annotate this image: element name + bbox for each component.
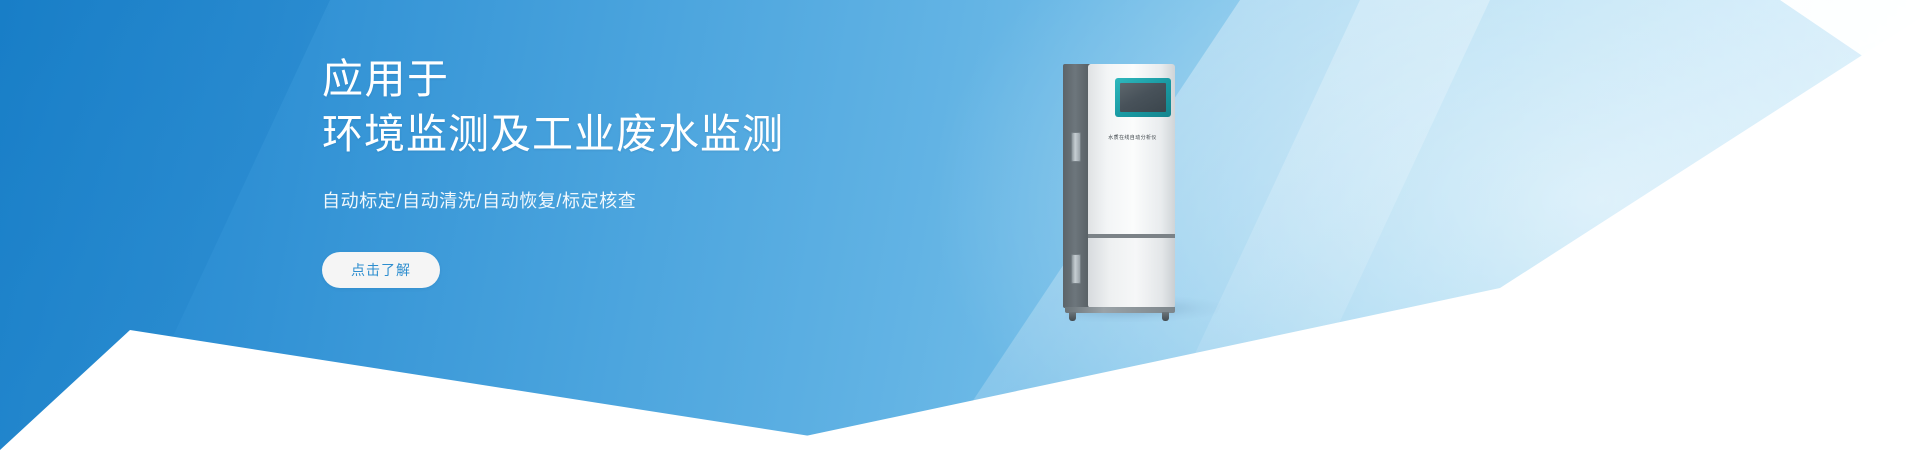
hero-headline: 应用于 环境监测及工业废水监测 (322, 52, 1022, 162)
device-display-screen (1120, 83, 1166, 112)
device-lower-cabinet (1088, 238, 1175, 308)
hero-subtitle: 自动标定/自动清洗/自动恢复/标定核查 (322, 188, 1022, 214)
device-foot-right (1162, 312, 1169, 321)
device-display-bezel (1115, 78, 1171, 117)
water-quality-analyzer-device: 水质在线自动分析仪 (1063, 64, 1177, 314)
device-foot-left (1069, 312, 1076, 321)
headline-line-2: 环境监测及工业废水监测 (322, 107, 1022, 162)
device-label: 水质在线自动分析仪 (1090, 134, 1175, 141)
device-upper-handle (1071, 132, 1081, 162)
hero-copy: 应用于 环境监测及工业废水监测 自动标定/自动清洗/自动恢复/标定核查 点击了解 (322, 52, 1022, 288)
hero-banner: 应用于 环境监测及工业废水监测 自动标定/自动清洗/自动恢复/标定核查 点击了解… (0, 0, 1920, 450)
device-lower-handle (1071, 254, 1081, 284)
device-base (1065, 307, 1175, 313)
headline-line-1: 应用于 (322, 52, 1022, 107)
learn-more-button[interactable]: 点击了解 (322, 252, 440, 288)
